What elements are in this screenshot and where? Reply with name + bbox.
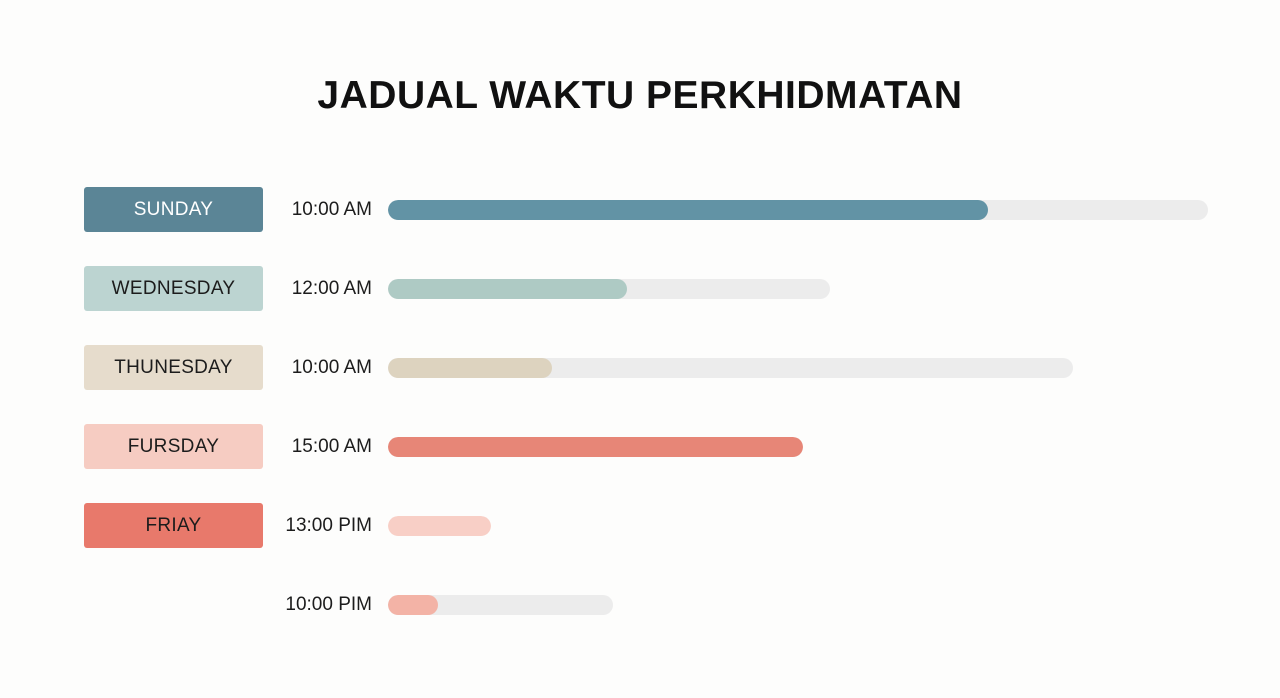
day-label: FURSDAY: [128, 437, 219, 456]
time-label: 12:00 AM: [212, 266, 372, 311]
progress-bar-fill: [388, 516, 491, 536]
progress-bar-container: [388, 345, 1073, 390]
time-label: 10:00 AM: [212, 345, 372, 390]
progress-bar-track[interactable]: [388, 437, 803, 457]
schedule-row: 10:00 PIM: [0, 582, 1280, 627]
progress-bar-track[interactable]: [388, 595, 613, 615]
progress-bar-container: [388, 503, 491, 548]
progress-bar-fill: [388, 595, 438, 615]
time-label: 10:00 AM: [212, 187, 372, 232]
page-title: JADUAL WAKTU PERKHIDMATAN: [0, 74, 1280, 118]
time-label: 15:00 AM: [212, 424, 372, 469]
progress-bar-track[interactable]: [388, 516, 491, 536]
schedule-row: FRIAY 13:00 PIM: [0, 503, 1280, 548]
progress-bar-track[interactable]: [388, 279, 830, 299]
progress-bar-fill: [388, 200, 988, 220]
progress-bar-container: [388, 266, 830, 311]
schedule-row: FURSDAY 15:00 AM: [0, 424, 1280, 469]
day-label: FRIAY: [145, 516, 201, 535]
time-label: 10:00 PIM: [212, 582, 372, 627]
progress-bar-fill: [388, 437, 803, 457]
progress-bar-fill: [388, 279, 627, 299]
progress-bar-fill: [388, 358, 552, 378]
progress-bar-track[interactable]: [388, 200, 1208, 220]
schedule-page: JADUAL WAKTU PERKHIDMATAN SUNDAY 10:00 A…: [0, 0, 1280, 698]
progress-bar-track[interactable]: [388, 358, 1073, 378]
progress-bar-container: [388, 424, 803, 469]
schedule-list: SUNDAY 10:00 AM WEDNESDAY 12:00 AM: [0, 187, 1280, 661]
schedule-row: THUNESDAY 10:00 AM: [0, 345, 1280, 390]
day-label: SUNDAY: [134, 200, 214, 219]
progress-bar-container: [388, 187, 1208, 232]
schedule-row: SUNDAY 10:00 AM: [0, 187, 1280, 232]
time-label: 13:00 PIM: [212, 503, 372, 548]
schedule-row: WEDNESDAY 12:00 AM: [0, 266, 1280, 311]
progress-bar-container: [388, 582, 613, 627]
